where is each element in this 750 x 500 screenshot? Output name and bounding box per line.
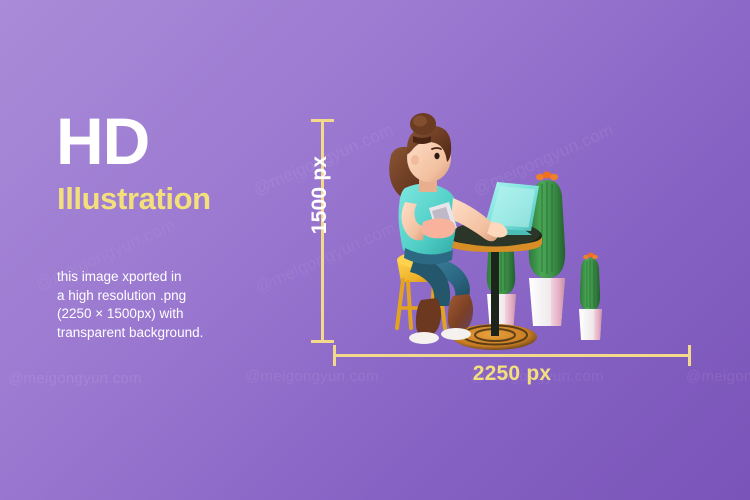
page-title: HD — [56, 108, 149, 174]
page-subtitle: Illustration — [57, 182, 211, 216]
description-text: this image xported in a high resolution … — [57, 268, 267, 342]
boot-back — [409, 298, 441, 344]
horizontal-dimension-label: 2250 px — [333, 362, 691, 386]
description-line-3: (2250 × 1500px) with — [57, 305, 267, 324]
description-line-2: a high resolution .png — [57, 287, 267, 306]
vertical-dimension-label: 1500 px — [308, 145, 332, 245]
watermark-text: @meigongyun.com — [8, 370, 142, 387]
vertical-dimension-cap-bottom — [311, 340, 334, 343]
eye — [434, 153, 439, 159]
eyebrow — [432, 148, 441, 149]
hand-left — [421, 218, 455, 238]
illustration-banner: @meigongyun.com@meigongyun.com@meigongyu… — [0, 0, 750, 500]
ear — [411, 155, 419, 165]
description-line-4: transparent background. — [57, 324, 267, 343]
description-line-1: this image xported in — [57, 268, 267, 287]
illustration-3d-scene — [375, 110, 630, 360]
watermark-text: @meigongyun.com — [686, 368, 750, 385]
cactus-small — [579, 253, 602, 340]
